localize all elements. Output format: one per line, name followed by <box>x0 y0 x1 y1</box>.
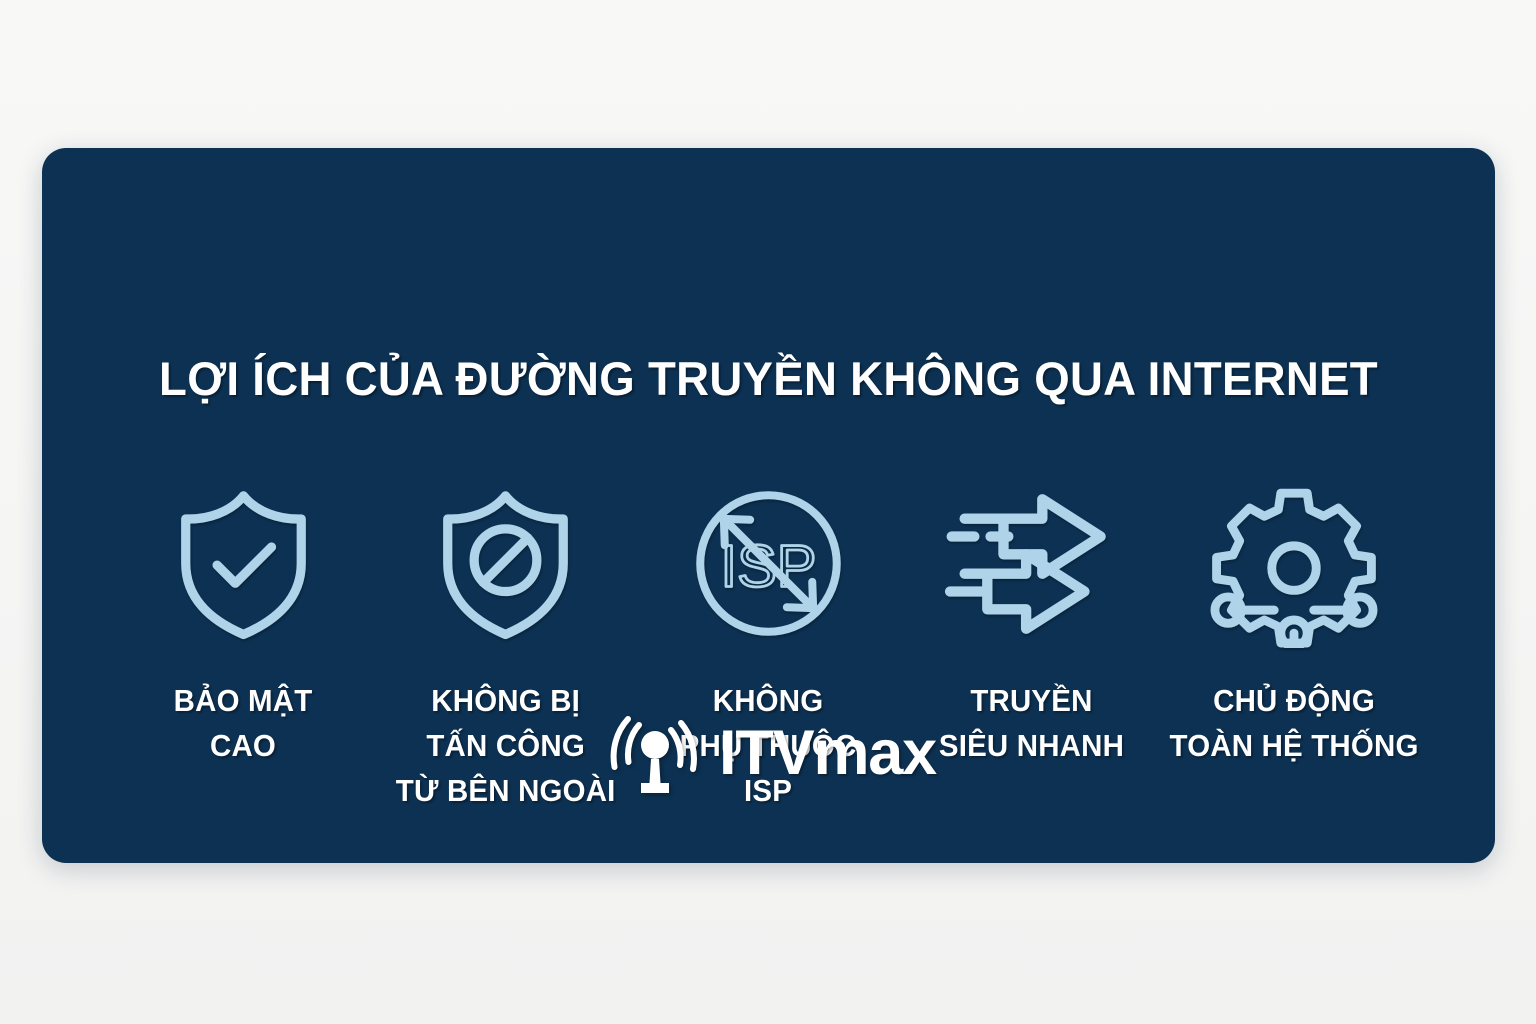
itvmax-logo: ITVmax <box>42 703 1495 803</box>
page-background: LỢI ÍCH CỦA ĐƯỜNG TRUYỀN KHÔNG QUA INTER… <box>0 0 1536 1024</box>
shield-block-icon <box>423 476 588 651</box>
isp-icon-text: ISP <box>721 532 817 599</box>
broadcast-antenna-icon <box>601 703 713 803</box>
fast-arrows-icon <box>942 476 1120 651</box>
page-title: LỢI ÍCH CỦA ĐƯỜNG TRUYỀN KHÔNG QUA INTER… <box>64 354 1473 403</box>
logo-text: ITVmax <box>719 722 936 785</box>
infographic-card: LỢI ÍCH CỦA ĐƯỜNG TRUYỀN KHÔNG QUA INTER… <box>42 148 1495 863</box>
gear-network-icon <box>1208 476 1380 651</box>
shield-check-icon <box>161 476 326 651</box>
no-isp-icon: ISP <box>681 476 856 651</box>
